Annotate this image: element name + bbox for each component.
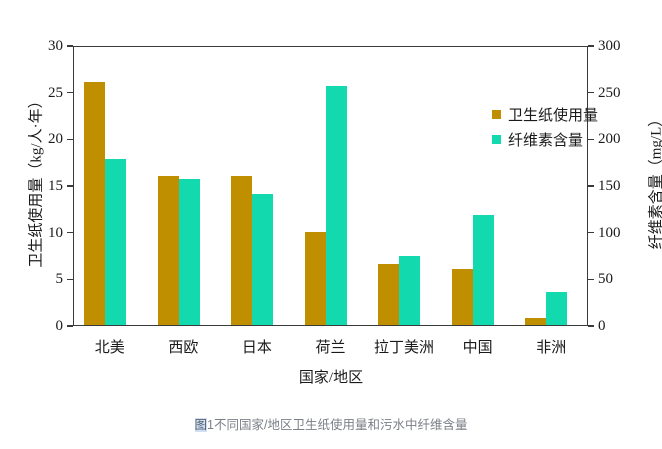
figure-container: 卫生纸使用量（kg/人·年） 纤维素含量（mg/L） 0510152025300… [0,0,662,449]
left-y-tick-label: 15 [30,179,63,194]
bar-tissue-use [452,269,473,325]
bar-group [74,47,148,325]
left-y-tick-label: 20 [30,132,63,147]
bar-tissue-use [84,82,105,325]
legend-label-cellulose: 纤维素含量 [508,129,583,150]
right-y-tick-label: 100 [598,226,621,241]
left-y-tick-label: 25 [30,86,63,101]
figure-caption: 图1不同国家/地区卫生纸使用量和污水中纤维含量 [0,414,662,433]
x-tick-label: 荷兰 [294,336,368,357]
bar-tissue-use [305,232,326,325]
x-axis-title: 国家/地区 [0,366,662,387]
right-y-tick-mark [588,325,594,326]
bar-tissue-use [231,176,252,325]
right-y-tick-label: 0 [598,319,606,334]
bar-group [515,47,589,325]
legend-swatch-tissue-use [492,110,501,119]
x-tick-label: 拉丁美洲 [367,336,441,357]
left-y-tick-label: 0 [30,319,63,334]
x-tick-label: 西欧 [147,336,221,357]
bar-cellulose [326,86,347,325]
x-tick-label: 北美 [73,336,147,357]
x-tick-label: 中国 [441,336,515,357]
bar-tissue-use [158,176,179,325]
left-y-tick-label: 30 [30,39,63,54]
bar-cellulose [399,256,420,325]
legend-label-tissue-use: 卫生纸使用量 [508,104,598,125]
right-axis-title: 纤维素含量（mg/L） [645,71,662,291]
x-tick-label: 非洲 [514,336,588,357]
bars-layer [74,47,587,325]
right-y-tick-label: 250 [598,86,621,101]
x-tick-label: 日本 [220,336,294,357]
right-y-tick-label: 50 [598,272,613,287]
right-y-tick-label: 200 [598,132,621,147]
bar-cellulose [252,194,273,325]
caption-text: 1不同国家/地区卫生纸使用量和污水中纤维含量 [207,418,467,432]
right-y-tick-label: 300 [598,39,621,54]
chart-legend: 卫生纸使用量 纤维素含量 [492,102,598,152]
bar-cellulose [179,179,200,325]
bar-cellulose [105,159,126,325]
bar-tissue-use [378,264,399,325]
bar-group [221,47,295,325]
bar-cellulose [473,215,494,325]
bar-tissue-use [525,318,546,325]
legend-swatch-cellulose [492,135,501,144]
caption-prefix: 图 [195,418,208,432]
left-y-tick-label: 10 [30,226,63,241]
bar-group [368,47,442,325]
bar-group [442,47,516,325]
legend-item: 纤维素含量 [492,127,598,152]
legend-item: 卫生纸使用量 [492,102,598,127]
bar-group [295,47,369,325]
left-y-tick-label: 5 [30,272,63,287]
plot-area: 卫生纸使用量 纤维素含量 [73,46,588,326]
bar-group [148,47,222,325]
right-y-tick-label: 150 [598,179,621,194]
bar-cellulose [546,292,567,325]
